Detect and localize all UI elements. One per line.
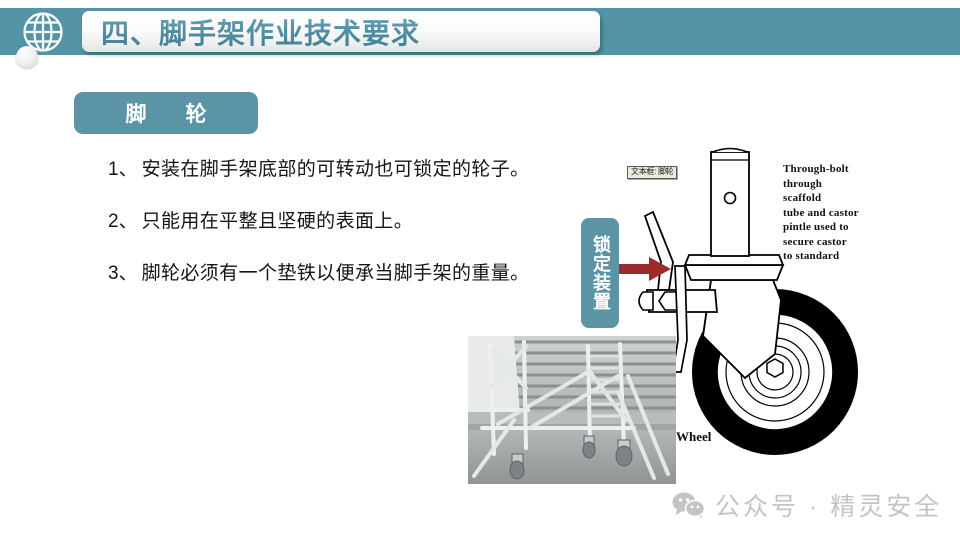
locking-device-label: 锁定装置 [589,235,611,311]
scaffold-photo-svg [468,336,676,484]
textbox-tag: 文本框: 脚轮 [627,166,677,179]
watermark-label: 公众号 · 精灵安全 [715,487,942,523]
arrow-right-icon [619,255,671,283]
body-list: 1、 安装在脚手架底部的可转动也可锁定的轮子。 2、 只能用在平整且坚硬的表面上… [108,158,608,313]
page-title: 四、脚手架作业技术要求 [101,12,420,52]
section-chip: 脚 轮 [74,92,258,134]
list-item: 3、 脚轮必须有一个垫铁以便承当脚手架的重量。 [108,262,608,286]
list-item: 1、 安装在脚手架底部的可转动也可锁定的轮子。 [108,158,608,182]
wechat-icon [672,492,705,519]
list-item-number: 2、 [108,210,138,234]
title-plate: 四、脚手架作业技术要求 [82,11,600,52]
wheel-label: Wheel [676,429,711,445]
decorative-dot [16,46,38,68]
list-item-number: 1、 [108,158,138,182]
list-item-text: 脚轮必须有一个垫铁以便承当脚手架的重量。 [142,262,530,286]
locking-device-chip: 锁定装置 [581,218,619,328]
list-item-number: 3、 [108,262,138,286]
slide-canvas: 四、脚手架作业技术要求 脚 轮 1、 安装在脚手架底部的可转动也可锁定的轮子。 … [0,0,960,540]
scaffold-photo [468,336,676,484]
list-item: 2、 只能用在平整且坚硬的表面上。 [108,210,608,234]
watermark: 公众号 · 精灵安全 [672,487,942,523]
list-item-text: 只能用在平整且坚硬的表面上。 [142,210,414,234]
list-item-text: 安装在脚手架底部的可转动也可锁定的轮子。 [142,158,530,182]
diagram-english-callout: Through-bolt through scaffold tube and c… [783,162,859,264]
section-chip-label: 脚 轮 [117,98,216,128]
